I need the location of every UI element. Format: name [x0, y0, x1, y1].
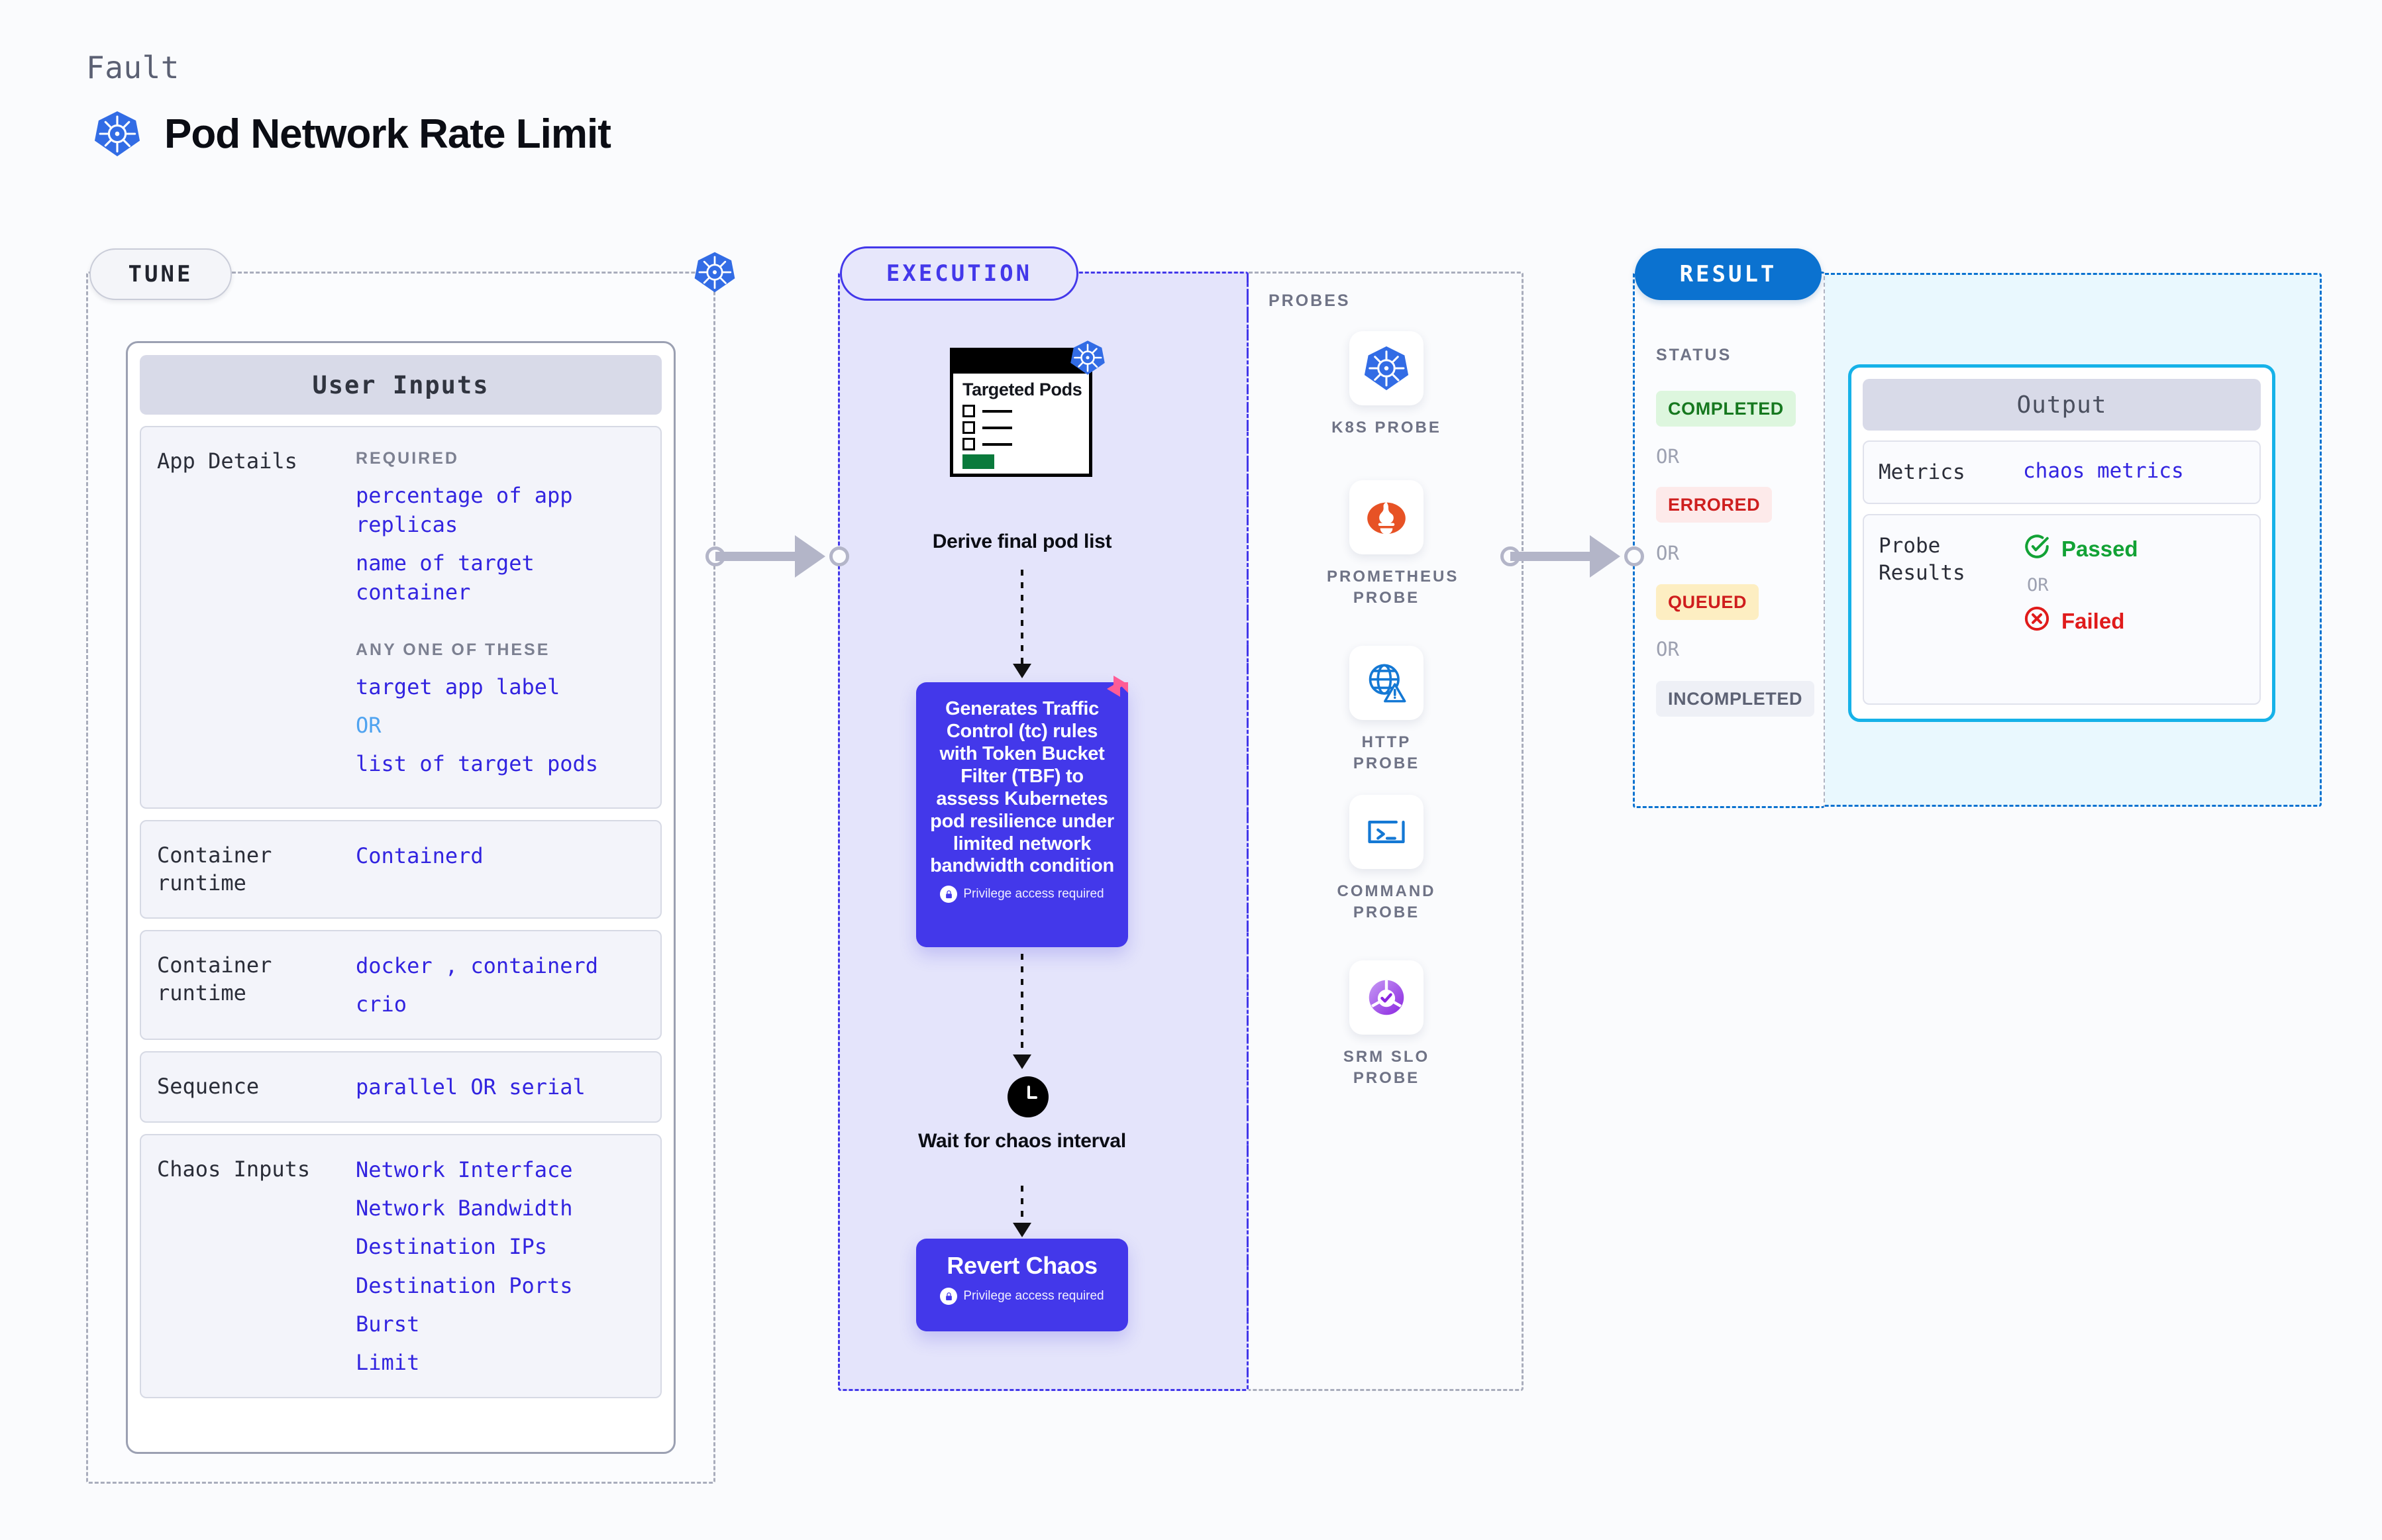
row-values-container-runtime: Containerd	[356, 841, 645, 897]
row-label-chaos-inputs: Chaos Inputs	[157, 1155, 356, 1377]
placeholder-line	[982, 427, 1012, 429]
status-badge-queued: QUEUED	[1656, 584, 1759, 620]
flow-arrow-line	[1021, 954, 1023, 1056]
probe-prometheus[interactable]: PROMETHEUS PROBE	[1327, 480, 1446, 609]
probe-failed-label: Failed	[2061, 609, 2124, 634]
list-item	[962, 405, 1089, 417]
value-percentage-replicas: percentage of app replicas	[356, 481, 645, 539]
kubernetes-icon	[1349, 331, 1424, 405]
row-value-probe-results: Passed OR Failed	[2023, 533, 2138, 686]
placeholder-line	[982, 443, 1012, 446]
probe-label: K8S PROBE	[1327, 417, 1446, 438]
table-row: Container runtime docker , containerd cr…	[140, 930, 662, 1040]
lock-icon	[940, 886, 957, 903]
probe-result-failed: Failed	[2023, 605, 2138, 638]
output-title: Output	[1863, 379, 2261, 431]
probes-title: PROBES	[1269, 291, 1351, 311]
row-values-chaos-inputs: Network Interface Network Bandwidth Dest…	[356, 1155, 645, 1377]
group-caption-any-one: ANY ONE OF THESE	[356, 639, 645, 662]
page-title: Pod Network Rate Limit	[164, 111, 611, 158]
row-values-sequence: parallel OR serial	[356, 1072, 645, 1102]
status-separator: OR	[1656, 542, 1679, 564]
probe-k8s[interactable]: K8S PROBE	[1327, 331, 1446, 438]
user-inputs-title: User Inputs	[140, 355, 662, 415]
table-row: Container runtime Containerd	[140, 820, 662, 918]
probe-label: HTTP PROBE	[1327, 732, 1446, 775]
status-separator: OR	[1656, 638, 1679, 660]
page-header: Pod Network Rate Limit	[93, 109, 611, 158]
spacer	[356, 616, 645, 639]
row-label-app-details: App Details	[157, 447, 356, 788]
list-item	[962, 421, 1089, 434]
fault-diagram: Fault Pod Network Rate Limit	[0, 0, 2382, 1540]
probe-result-passed: Passed	[2023, 533, 2138, 566]
clock-icon	[1008, 1076, 1049, 1117]
flow-arrow-line	[1021, 1186, 1023, 1225]
value-destination-ips: Destination IPs	[356, 1232, 645, 1261]
status-separator: OR	[1656, 445, 1679, 468]
probe-http[interactable]: HTTP PROBE	[1327, 646, 1446, 775]
probe-srm-slo[interactable]: SRM SLO PROBE	[1327, 960, 1446, 1090]
row-values-container-runtime-list: docker , containerd crio	[356, 951, 645, 1019]
targeted-pods-card: Targeted Pods	[950, 348, 1092, 477]
value-limit: Limit	[356, 1348, 645, 1377]
value-crio: crio	[356, 990, 645, 1019]
prometheus-icon	[1349, 480, 1424, 554]
row-label-container-runtime: Container runtime	[157, 841, 356, 897]
row-label-container-runtime-list: Container runtime	[157, 951, 356, 1019]
value-network-bandwidth: Network Bandwidth	[356, 1194, 645, 1223]
probe-label: PROMETHEUS PROBE	[1327, 566, 1446, 609]
status-title: STATUS	[1656, 346, 1732, 365]
probe-command[interactable]: COMMAND PROBE	[1327, 795, 1446, 924]
placeholder-line	[982, 410, 1012, 413]
group-caption-required: REQUIRED	[356, 447, 645, 470]
terminal-icon	[1349, 795, 1424, 869]
status-badge-completed: COMPLETED	[1656, 391, 1796, 427]
lock-icon	[940, 1288, 957, 1305]
value-list-target-pods: list of target pods	[356, 749, 645, 778]
table-row: App Details REQUIRED percentage of app r…	[140, 426, 662, 809]
value-network-interface: Network Interface	[356, 1155, 645, 1184]
table-row: Chaos Inputs Network Interface Network B…	[140, 1134, 662, 1398]
row-value-metrics: chaos metrics	[2023, 459, 2184, 486]
page-eyebrow: Fault	[86, 50, 180, 85]
x-circle-icon	[2023, 605, 2051, 638]
privilege-label: Privilege access required	[963, 887, 1104, 901]
chaos-action-card: Generates Traffic Control (tc) rules wit…	[916, 682, 1128, 947]
user-inputs-card: User Inputs App Details REQUIRED percent…	[126, 341, 676, 1454]
list-item	[962, 438, 1089, 450]
kubernetes-icon	[93, 109, 142, 158]
table-row: Probe Results Passed OR	[1863, 514, 2261, 705]
status-badge-errored: ERRORED	[1656, 487, 1772, 523]
flow-arrow-head	[1013, 664, 1031, 678]
privilege-notice: Privilege access required	[928, 1288, 1116, 1305]
value-target-app-label: target app label	[356, 672, 645, 701]
privilege-notice: Privilege access required	[928, 886, 1116, 903]
result-section-label: RESULT	[1635, 248, 1822, 300]
row-label-metrics: Metrics	[1879, 459, 2023, 486]
probe-result-separator: OR	[2027, 575, 2138, 595]
value-target-container: name of target container	[356, 548, 645, 607]
flow-arrow-line	[1021, 570, 1023, 666]
kubernetes-icon	[1069, 339, 1106, 380]
revert-chaos-title: Revert Chaos	[928, 1252, 1116, 1280]
derive-pod-list-caption: Derive final pod list	[916, 530, 1128, 554]
tune-section-label: TUNE	[89, 248, 232, 300]
row-label-sequence: Sequence	[157, 1072, 356, 1102]
srm-slo-icon	[1349, 960, 1424, 1035]
table-row: Sequence parallel OR serial	[140, 1051, 662, 1123]
status-badge-incompleted: INCOMPLETED	[1656, 681, 1814, 717]
privilege-label: Privilege access required	[963, 1289, 1104, 1304]
check-circle-icon	[2023, 533, 2051, 566]
value-docker-containerd: docker , containerd	[356, 951, 645, 980]
clock-minute-hand	[1027, 1096, 1037, 1099]
value-sequence: parallel OR serial	[356, 1072, 645, 1102]
checkbox-icon	[962, 421, 975, 434]
value-burst: Burst	[356, 1309, 645, 1339]
globe-warning-icon	[1349, 646, 1424, 720]
chaos-action-text: Generates Traffic Control (tc) rules wit…	[928, 698, 1116, 878]
wait-interval-caption: Wait for chaos interval	[916, 1129, 1128, 1154]
table-row: Metrics chaos metrics	[1863, 440, 2261, 504]
flow-arrow-head	[1013, 1223, 1031, 1237]
output-card: Output Metrics chaos metrics Probe Resul…	[1848, 364, 2275, 722]
probe-label: COMMAND PROBE	[1327, 881, 1446, 924]
probe-passed-label: Passed	[2061, 537, 2138, 562]
flow-arrow-head	[1013, 1054, 1031, 1069]
checkbox-icon	[962, 438, 975, 450]
revert-chaos-card: Revert Chaos Privilege access required	[916, 1239, 1128, 1331]
checkbox-icon	[962, 405, 975, 417]
value-or-separator: OR	[356, 711, 645, 740]
value-destination-ports: Destination Ports	[356, 1271, 645, 1300]
pods-checklist	[953, 399, 1089, 469]
value-containerd: Containerd	[356, 841, 645, 870]
row-values-app-details: REQUIRED percentage of app replicas name…	[356, 447, 645, 788]
chaos-badge-icon	[1098, 673, 1137, 716]
row-label-probe-results: Probe Results	[1879, 533, 2023, 686]
kubernetes-icon	[693, 250, 737, 297]
execution-section-label: EXECUTION	[840, 246, 1078, 301]
progress-bar	[962, 454, 994, 469]
probe-label: SRM SLO PROBE	[1327, 1047, 1446, 1090]
